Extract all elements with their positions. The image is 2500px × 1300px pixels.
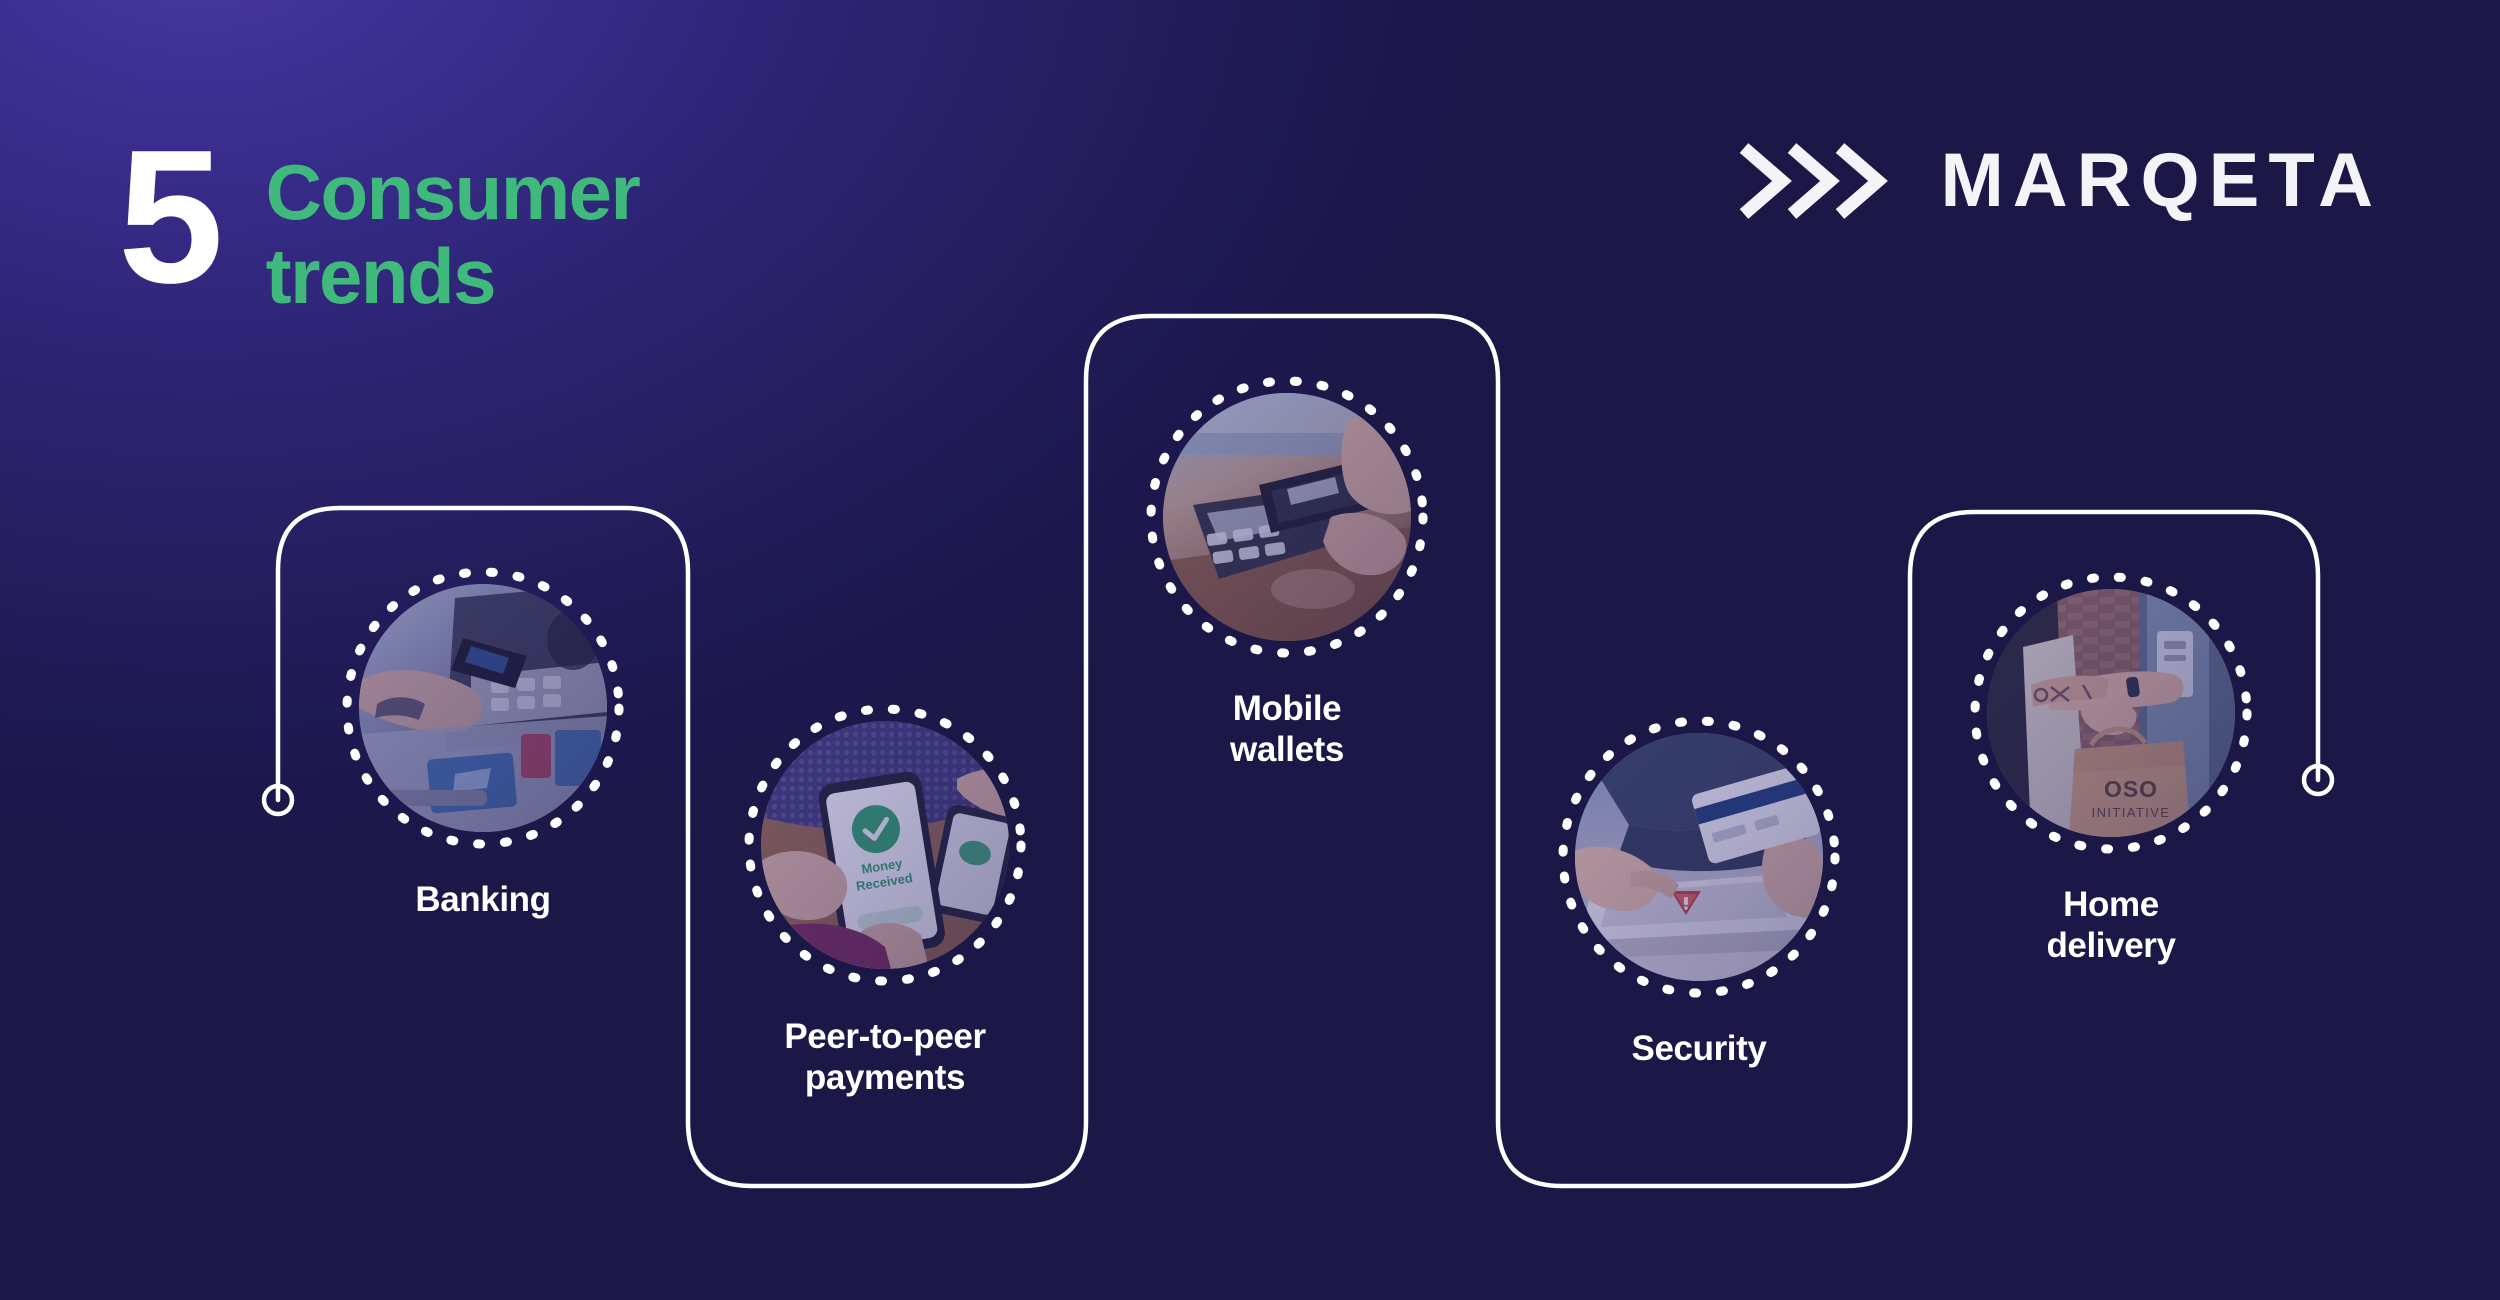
- trend-label-security: Security: [1632, 1028, 1767, 1069]
- trend-node-home-delivery[interactable]: OSO INITIATIVE Home delivery: [1966, 568, 2256, 967]
- trend-label-peer-to-peer-payments: Peer-to-peer payments: [784, 1016, 985, 1099]
- trend-node-security[interactable]: Security: [1554, 712, 1844, 1069]
- trend-photo-mobile-wallets: [1142, 372, 1432, 662]
- trend-label-home-delivery: Home delivery: [2046, 884, 2175, 967]
- trend-label-banking: Banking: [415, 879, 550, 920]
- trend-photo-peer-to-peer-payments: Money Received: [740, 700, 1030, 990]
- trend-node-peer-to-peer-payments[interactable]: Money Received Peer-to-peer payments: [740, 700, 1030, 1099]
- trend-photo-security: [1554, 712, 1844, 1002]
- trend-photo-banking: [338, 563, 628, 853]
- photo-mobile-wallets: [1163, 393, 1411, 641]
- photo-peer-to-peer-payments: Money Received: [761, 721, 1009, 969]
- infographic-canvas: 5 Consumer trends MARQETA: [0, 0, 2500, 1300]
- trend-label-mobile-wallets: Mobile wallets: [1230, 688, 1344, 771]
- trend-node-mobile-wallets[interactable]: Mobile wallets: [1142, 372, 1432, 771]
- trend-photo-home-delivery: OSO INITIATIVE: [1966, 568, 2256, 858]
- photo-security: [1575, 733, 1823, 981]
- trend-node-banking[interactable]: Banking: [338, 563, 628, 920]
- photo-home-delivery: OSO INITIATIVE: [1987, 589, 2235, 837]
- photo-banking: [359, 584, 607, 832]
